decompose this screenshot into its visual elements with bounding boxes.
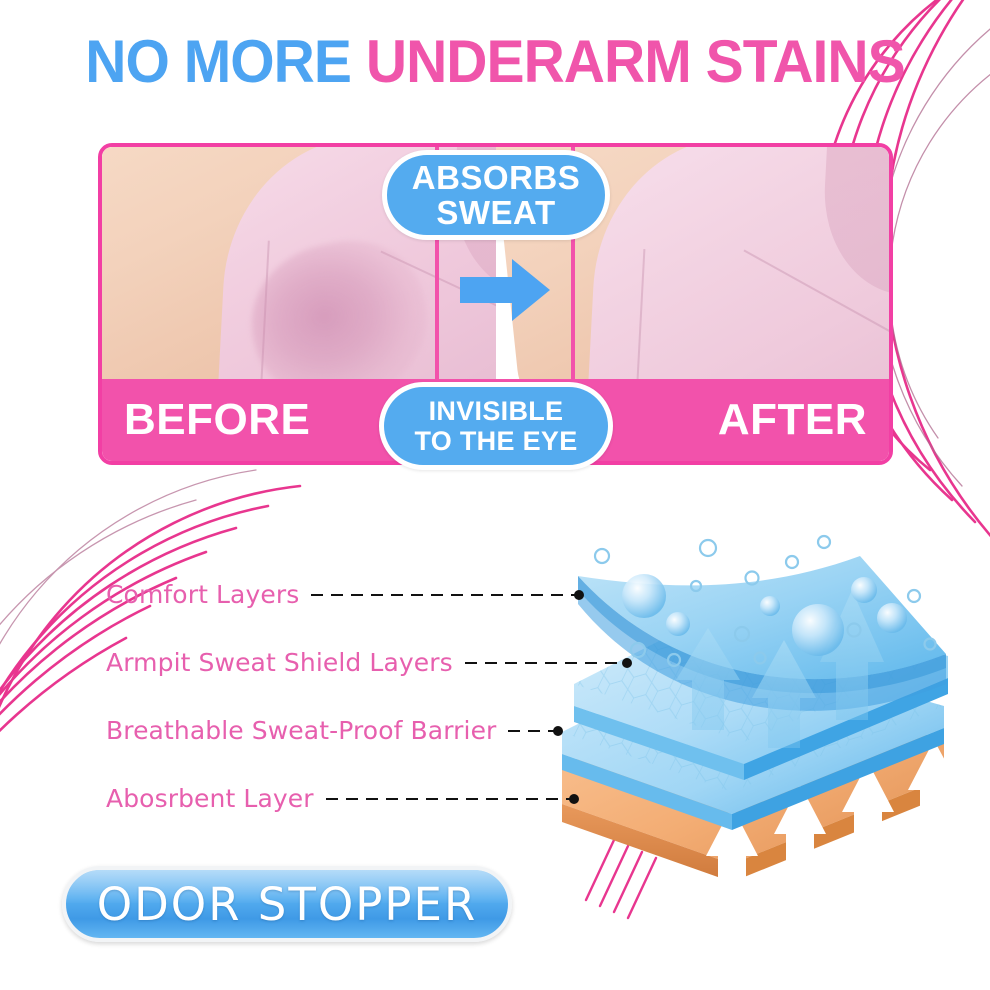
before-label: BEFORE [124, 397, 310, 443]
infographic-canvas: NO MORE UNDERARM STAINS BEFORE [0, 0, 990, 990]
badge-invisible-line1: INVISIBLE [429, 396, 564, 426]
layer-label: Abosrbent Layer [106, 784, 314, 813]
layered-pad-illustration [556, 534, 948, 886]
leader-line [326, 798, 574, 800]
layer-label: Breathable Sweat-Proof Barrier [106, 716, 496, 745]
layer-callout-2: Armpit Sweat Shield Layers [106, 648, 627, 677]
odor-stopper-label: ODOR STOPPER [97, 878, 478, 931]
leader-line [311, 594, 579, 596]
leader-line [508, 730, 558, 732]
shoulder-fold [819, 147, 889, 297]
layer-callout-3: Breathable Sweat-Proof Barrier [106, 716, 558, 745]
leader-line [465, 662, 627, 664]
right-arrow-icon [460, 259, 550, 321]
layer-callout-1: Comfort Layers [106, 580, 579, 609]
layer-label: Comfort Layers [106, 580, 299, 609]
badge-absorbs-line2: SWEAT [436, 195, 555, 230]
layer-callout-4: Abosrbent Layer [106, 784, 574, 813]
title-part-blue: NO MORE [85, 28, 351, 95]
title-part-pink: UNDERARM STAINS [366, 28, 905, 95]
after-label: AFTER [718, 397, 867, 443]
badge-invisible-line2: TO THE EYE [414, 426, 577, 456]
badge-absorbs-line1: ABSORBS [412, 160, 581, 195]
badge-invisible-to-the-eye: INVISIBLE TO THE EYE [379, 382, 613, 470]
odor-stopper-button[interactable]: ODOR STOPPER [62, 866, 512, 942]
badge-absorbs-sweat: ABSORBS SWEAT [382, 150, 610, 240]
page-title: NO MORE UNDERARM STAINS [25, 30, 966, 94]
layer-label: Armpit Sweat Shield Layers [106, 648, 453, 677]
